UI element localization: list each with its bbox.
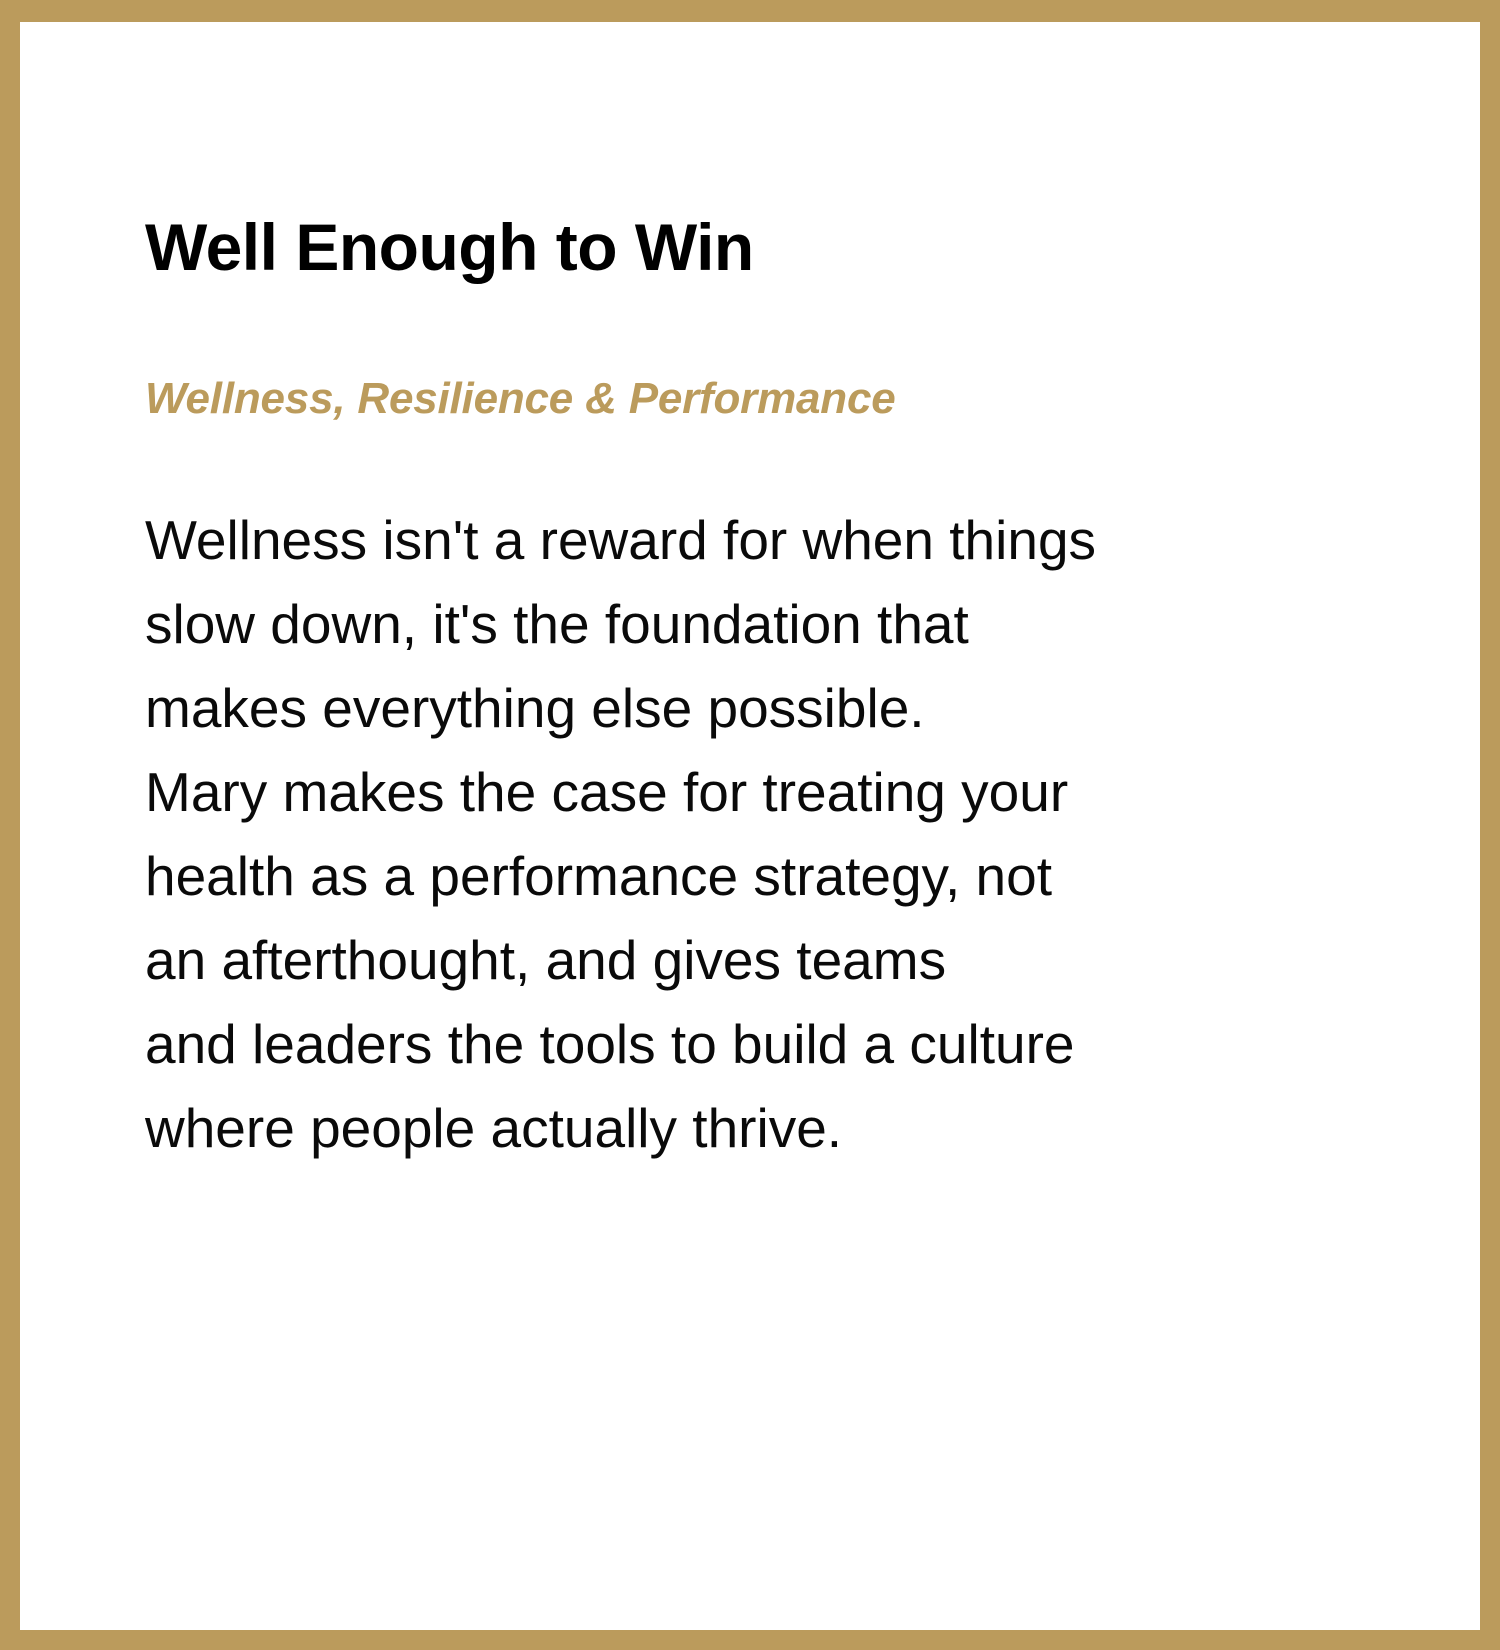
- description-line: an afterthought, and gives teams: [145, 918, 1215, 1002]
- description-line: and leaders the tools to build a culture: [145, 1002, 1215, 1086]
- description-line: slow down, it's the foundation that: [145, 582, 1215, 666]
- description-line: where people actually thrive.: [145, 1086, 1215, 1170]
- page-title: Well Enough to Win: [145, 212, 1245, 283]
- description-line: makes everything else possible.: [145, 666, 1215, 750]
- session-card-content: Well Enough to Win Wellness, Resilience …: [145, 212, 1245, 1170]
- session-subtitle: Wellness, Resilience & Performance: [145, 283, 1245, 423]
- session-description: Wellness isn't a reward for when things …: [145, 424, 1215, 1170]
- description-line: health as a performance strategy, not: [145, 834, 1215, 918]
- description-line: Mary makes the case for treating your: [145, 750, 1215, 834]
- description-line: Wellness isn't a reward for when things: [145, 498, 1215, 582]
- session-card-frame: Well Enough to Win Wellness, Resilience …: [0, 0, 1500, 1650]
- session-card-surface: Well Enough to Win Wellness, Resilience …: [20, 22, 1480, 1630]
